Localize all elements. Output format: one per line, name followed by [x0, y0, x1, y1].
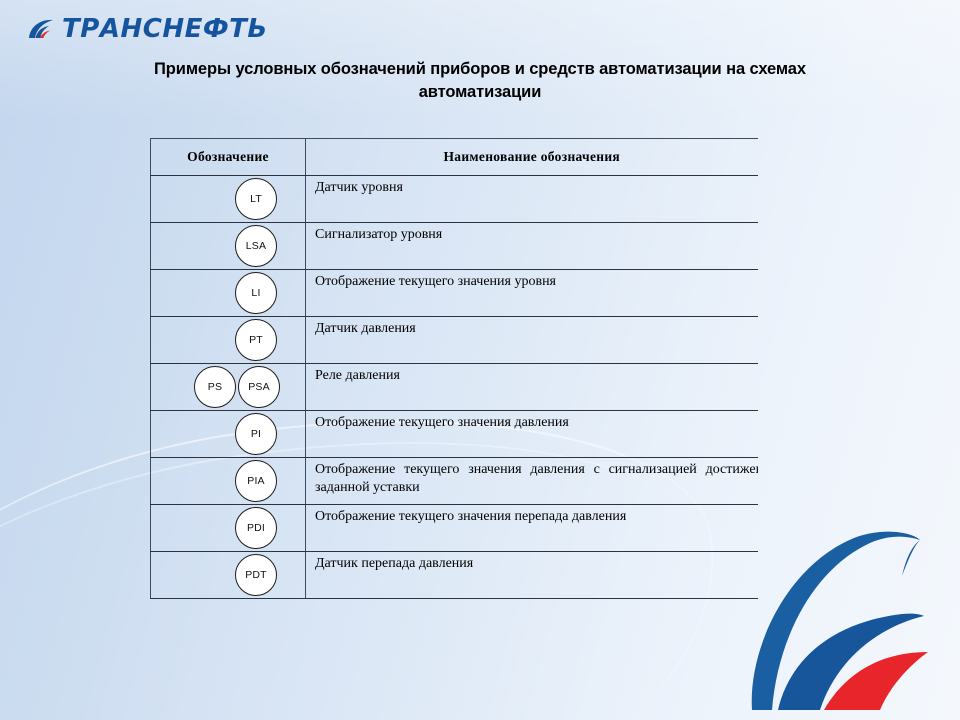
symbol-cell-inner: PIA	[151, 458, 305, 504]
table-body: LTДатчик уровняLSAСигнализатор уровняLIО…	[151, 176, 758, 599]
instrument-bubble: PT	[235, 319, 277, 361]
symbols-table: Обозначение Наименование обозначения LTД…	[150, 138, 758, 599]
table-row: PSPSAРеле давления	[151, 364, 758, 411]
table-row: PDTДатчик перепада давления	[151, 552, 758, 599]
symbol-cell-inner: PDT	[151, 552, 305, 598]
table-header: Обозначение Наименование обозначения	[151, 139, 758, 176]
symbol-cell: PT	[151, 317, 306, 364]
description-text: Сигнализатор уровня	[306, 223, 758, 244]
description-text: Реле давления	[306, 364, 758, 385]
symbol-cell-inner: PT	[151, 317, 305, 363]
instrument-bubble: PIA	[235, 460, 277, 502]
table-row: LIОтображение текущего значения уровня	[151, 270, 758, 317]
instrument-bubble: PDI	[235, 507, 277, 549]
symbol-cell-inner: LT	[151, 176, 305, 222]
instrument-bubble-group: PDI	[151, 505, 305, 551]
table-row: PIОтображение текущего значения давления	[151, 411, 758, 458]
symbol-cell: LT	[151, 176, 306, 223]
description-cell: Сигнализатор уровня	[306, 223, 758, 270]
instrument-bubble: LSA	[235, 225, 277, 267]
description-cell: Отображение текущего значения уровня	[306, 270, 758, 317]
symbol-cell: PSPSA	[151, 364, 306, 411]
instrument-bubble-group: LT	[151, 176, 305, 222]
table-row: PIAОтображение текущего значения давлени…	[151, 458, 758, 505]
description-cell-inner: Сигнализатор уровня	[306, 223, 758, 269]
description-text: Датчик уровня	[306, 176, 758, 197]
symbol-cell-inner: PDI	[151, 505, 305, 551]
description-text: Датчик перепада давления	[306, 552, 758, 573]
symbol-cell-inner: LSA	[151, 223, 305, 269]
table-row: LTДатчик уровня	[151, 176, 758, 223]
description-cell: Датчик давления	[306, 317, 758, 364]
instrument-bubble-group: PT	[151, 317, 305, 363]
instrument-bubble-group: PSPSA	[151, 364, 305, 410]
description-cell-inner: Отображение текущего значения давления с…	[306, 458, 758, 504]
instrument-bubble: PS	[194, 366, 236, 408]
instrument-bubble-group: PI	[151, 411, 305, 457]
brand-logo: ТРАНСНЕФТЬ	[27, 17, 266, 43]
table-row: LSAСигнализатор уровня	[151, 223, 758, 270]
description-text: Отображение текущего значения уровня	[306, 270, 758, 291]
column-header-description-label: Наименование обозначения	[306, 139, 758, 175]
column-header-description: Наименование обозначения	[306, 139, 758, 176]
symbol-cell: PI	[151, 411, 306, 458]
corner-transneft-swoosh-icon	[742, 530, 952, 720]
description-cell-inner: Реле давления	[306, 364, 758, 410]
instrument-bubble: PDT	[235, 554, 277, 596]
description-cell: Отображение текущего значения перепада д…	[306, 505, 758, 552]
instrument-bubble: LT	[235, 178, 277, 220]
table-header-row: Обозначение Наименование обозначения	[151, 139, 758, 176]
table-row: PDIОтображение текущего значения перепад…	[151, 505, 758, 552]
column-header-symbol-label: Обозначение	[151, 139, 305, 175]
instrument-bubble: PI	[235, 413, 277, 455]
symbol-cell-inner: LI	[151, 270, 305, 316]
instrument-bubble: LI	[235, 272, 277, 314]
description-text: Отображение текущего значения давления	[306, 411, 758, 432]
instrument-bubble-group: LI	[151, 270, 305, 316]
description-cell: Отображение текущего значения давления	[306, 411, 758, 458]
table-row: PTДатчик давления	[151, 317, 758, 364]
description-cell: Датчик перепада давления	[306, 552, 758, 599]
symbol-cell: PIA	[151, 458, 306, 505]
symbol-cell: LI	[151, 270, 306, 317]
brand-name: ТРАНСНЕФТЬ	[62, 17, 268, 43]
description-cell-inner: Датчик перепада давления	[306, 552, 758, 598]
description-text: Отображение текущего значения давления с…	[306, 458, 758, 497]
transneft-swoosh-icon	[27, 18, 57, 42]
description-cell-inner: Отображение текущего значения перепада д…	[306, 505, 758, 551]
instrument-bubble-group: LSA	[151, 223, 305, 269]
instrument-bubble-group: PIA	[151, 458, 305, 504]
description-cell: Датчик уровня	[306, 176, 758, 223]
description-text: Отображение текущего значения перепада д…	[306, 505, 758, 526]
symbol-cell-inner: PI	[151, 411, 305, 457]
description-cell: Отображение текущего значения давления с…	[306, 458, 758, 505]
symbol-cell: PDI	[151, 505, 306, 552]
column-header-symbol: Обозначение	[151, 139, 306, 176]
symbol-cell: PDT	[151, 552, 306, 599]
description-cell-inner: Датчик уровня	[306, 176, 758, 222]
description-cell-inner: Отображение текущего значения уровня	[306, 270, 758, 316]
symbol-cell-inner: PSPSA	[151, 364, 305, 410]
slide-canvas: ТРАНСНЕФТЬ Примеры условных обозначений …	[0, 0, 960, 720]
instrument-bubble-group: PDT	[151, 552, 305, 598]
description-cell-inner: Отображение текущего значения давления	[306, 411, 758, 457]
symbol-cell: LSA	[151, 223, 306, 270]
description-cell-inner: Датчик давления	[306, 317, 758, 363]
page-title: Примеры условных обозначений приборов и …	[105, 58, 855, 105]
description-text: Датчик давления	[306, 317, 758, 338]
instrument-bubble: PSA	[238, 366, 280, 408]
description-cell: Реле давления	[306, 364, 758, 411]
